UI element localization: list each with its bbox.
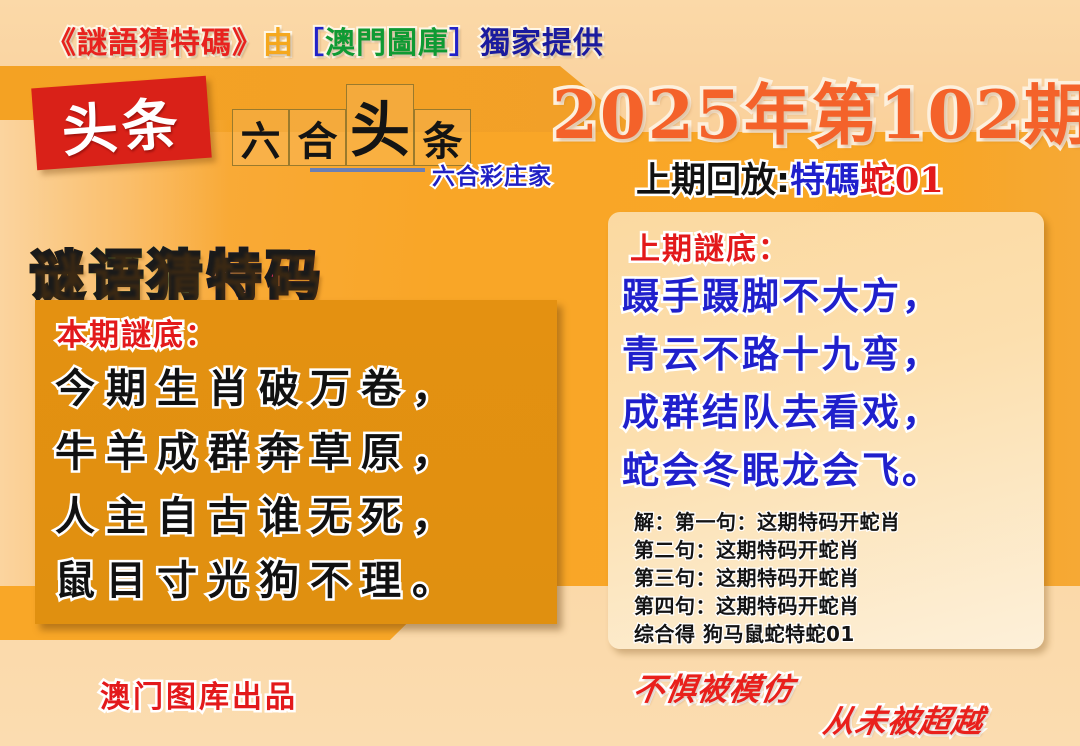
current-answer-title: 本期謎底： — [57, 310, 217, 354]
header-part-title: 《謎語猜特碼》 — [46, 26, 263, 61]
replay-label: 上期回放: — [636, 161, 790, 201]
liuhe-box-char-1: 六 — [232, 109, 289, 166]
current-answer-panel: 本期謎底： 今期生肖破万卷， 牛羊成群奔草原， 人主自古谁无死， 鼠目寸光狗不理… — [35, 300, 557, 624]
current-answer-line-3: 人主自古谁无死， — [55, 484, 463, 542]
liuhe-box-char-2: 合 — [289, 109, 346, 166]
header-part-bracket-open: ［ — [294, 26, 325, 61]
footer-brand: 澳门图库出品 — [100, 672, 298, 716]
toutiao-badge: 头条 — [31, 76, 212, 171]
previous-answer-line-3: 成群结队去看戏， — [622, 382, 942, 436]
header-part-provider: 澳門圖庫 — [325, 26, 449, 61]
rainbow-char-4: 特 — [207, 245, 266, 308]
explanation-line-3: 第三句：这期特码开蛇肖 — [634, 562, 860, 591]
explanation-line-5: 综合得 狗马鼠蛇特蛇01 — [634, 618, 855, 647]
previous-answer-line-4: 蛇会冬眠龙会飞。 — [622, 440, 942, 494]
previous-draw-replay: 上期回放:特碼蛇01 — [636, 152, 944, 203]
current-answer-line-1: 今期生肖破万卷， — [55, 356, 463, 414]
previous-answer-title: 上期謎底： — [630, 224, 790, 268]
footer-slogan-1: 不惧被模仿 — [630, 664, 797, 709]
current-answer-line-2: 牛羊成群奔草原， — [55, 420, 463, 478]
liuhe-box-char-3: 头 — [346, 84, 414, 166]
liuhe-boxed-title: 六 合 头 条 — [232, 84, 471, 166]
issue-title: 2025年第102期 — [552, 62, 1080, 158]
header-part-bracket-close: ］ — [449, 26, 480, 61]
header-part-exclusive: 獨家提供 — [480, 26, 604, 61]
explanation-line-4: 第四句：这期特码开蛇肖 — [634, 590, 860, 619]
rainbow-char-1: 谜 — [30, 245, 89, 308]
previous-answer-line-1: 蹑手蹑脚不大方， — [622, 266, 942, 320]
header-part-by: 由 — [263, 26, 294, 61]
replay-value: 蛇01 — [860, 160, 944, 201]
header-tagline: 《謎語猜特碼》由［澳門圖庫］獨家提供 — [46, 18, 604, 62]
rainbow-char-3: 猜 — [148, 245, 207, 308]
rainbow-char-2: 语 — [89, 245, 148, 308]
toutiao-badge-label: 头条 — [31, 76, 212, 171]
explanation-line-2: 第二句：这期特码开蛇肖 — [634, 534, 860, 563]
explanation-line-1: 解：第一句：这期特码开蛇肖 — [634, 506, 901, 535]
replay-type: 特碼 — [790, 161, 860, 201]
rainbow-char-5: 码 — [266, 245, 325, 308]
footer-slogan-2: 从未被超越 — [820, 696, 987, 741]
liuhe-subtitle: 六合彩庄家 — [432, 157, 552, 191]
previous-answer-panel: 上期謎底： 蹑手蹑脚不大方， 青云不路十九弯， 成群结队去看戏， 蛇会冬眠龙会飞… — [608, 212, 1044, 649]
poster-root: 《謎語猜特碼》由［澳門圖庫］獨家提供 头条 六 合 头 条 六合彩庄家 2025… — [0, 0, 1080, 746]
current-answer-line-4: 鼠目寸光狗不理。 — [55, 548, 463, 606]
liuhe-divider-rule — [310, 168, 425, 172]
previous-answer-line-2: 青云不路十九弯， — [622, 324, 942, 378]
